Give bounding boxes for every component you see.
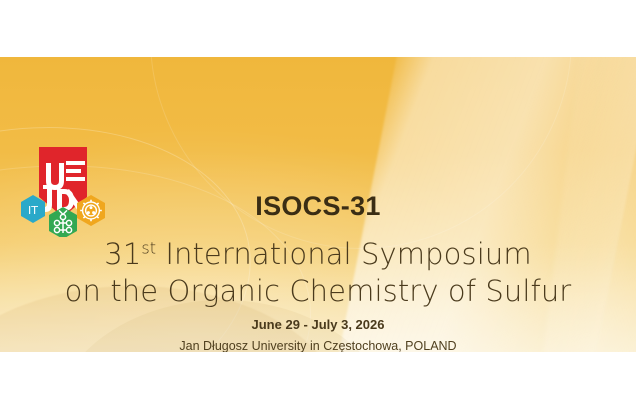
- title-number: 31: [104, 237, 141, 271]
- conference-title-line-2: on the Organic Chemistry of Sulfur: [0, 274, 636, 308]
- page-root: IT: [0, 0, 636, 407]
- conference-dates: June 29 - July 3, 2026: [0, 317, 636, 332]
- title-rest: International Symposium: [156, 237, 532, 271]
- conference-acronym: ISOCS-31: [0, 191, 636, 222]
- conference-venue: Jan Długosz University in Częstochowa, P…: [0, 339, 636, 352]
- title-ordinal-suffix: st: [141, 238, 156, 257]
- conference-banner: IT: [0, 57, 636, 352]
- conference-title-line-1: 31st International Symposium: [0, 237, 636, 271]
